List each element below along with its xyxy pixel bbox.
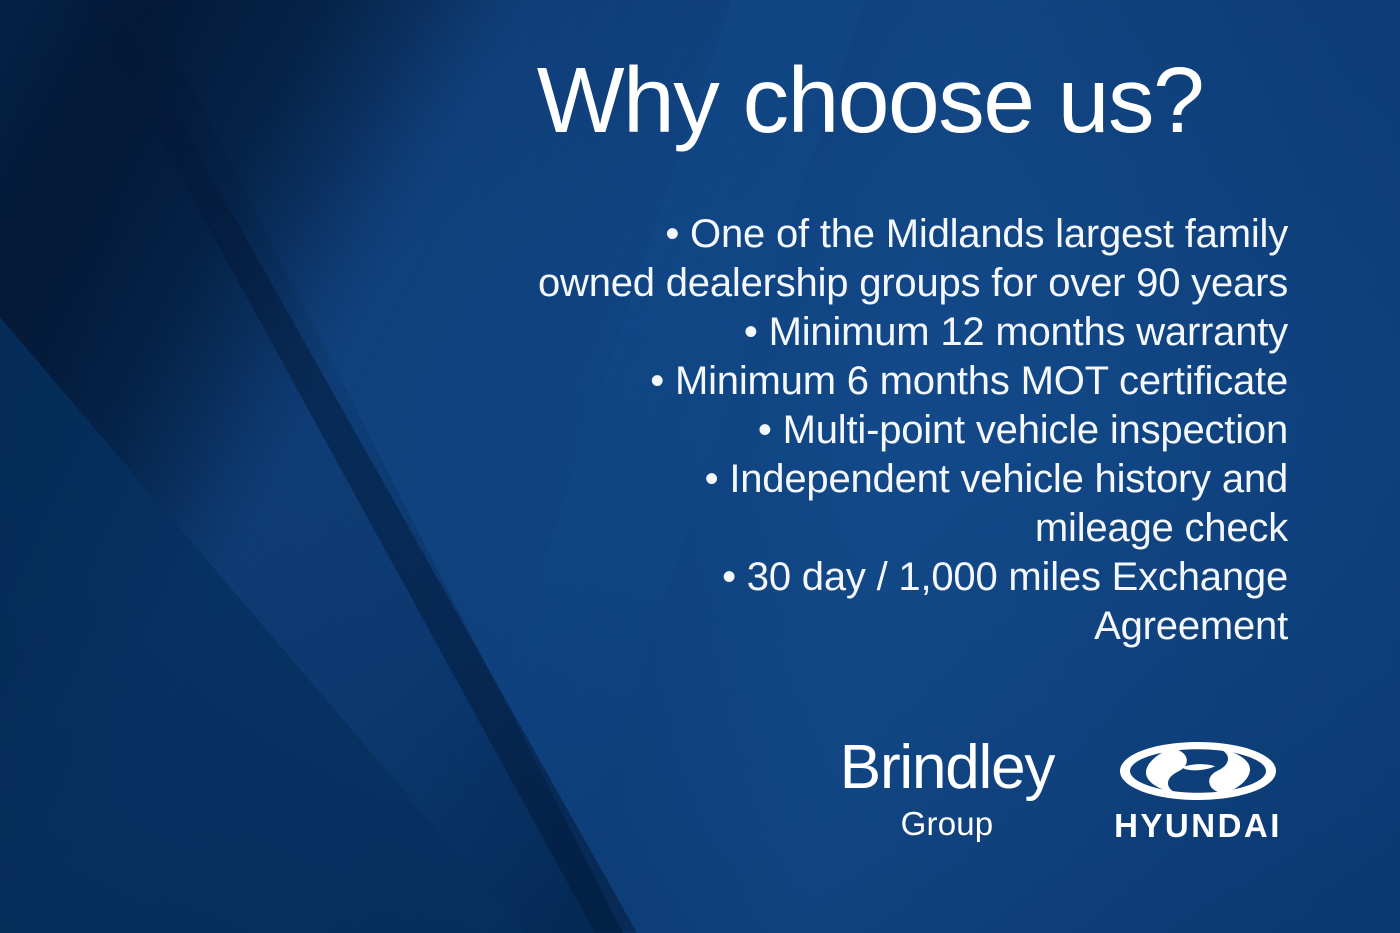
list-item: • Minimum 6 months MOT certificate <box>458 357 1288 406</box>
slide-content: Why choose us? • One of the Midlands lar… <box>0 0 1400 933</box>
brindley-group-logo: Brindley Group <box>816 735 1078 843</box>
slide-canvas: Why choose us? • One of the Midlands lar… <box>0 0 1400 933</box>
list-item: Agreement <box>458 602 1288 651</box>
brindley-group-label: Group <box>816 805 1078 843</box>
brindley-wordmark: Brindley <box>816 735 1078 801</box>
list-item: • One of the Midlands largest family <box>458 210 1288 259</box>
list-item: • 30 day / 1,000 miles Exchange <box>458 553 1288 602</box>
list-item: • Independent vehicle history and <box>458 455 1288 504</box>
hyundai-wordmark: HYUNDAI <box>1098 808 1298 844</box>
hyundai-logo: HYUNDAI <box>1098 740 1298 844</box>
list-item: • Minimum 12 months warranty <box>458 308 1288 357</box>
list-item: owned dealership groups for over 90 year… <box>458 259 1288 308</box>
hyundai-ellipse-h-icon <box>1118 740 1278 802</box>
benefits-list: • One of the Midlands largest family own… <box>458 210 1288 651</box>
list-item: mileage check <box>458 504 1288 553</box>
page-title: Why choose us? <box>450 52 1290 150</box>
list-item: • Multi-point vehicle inspection <box>458 406 1288 455</box>
